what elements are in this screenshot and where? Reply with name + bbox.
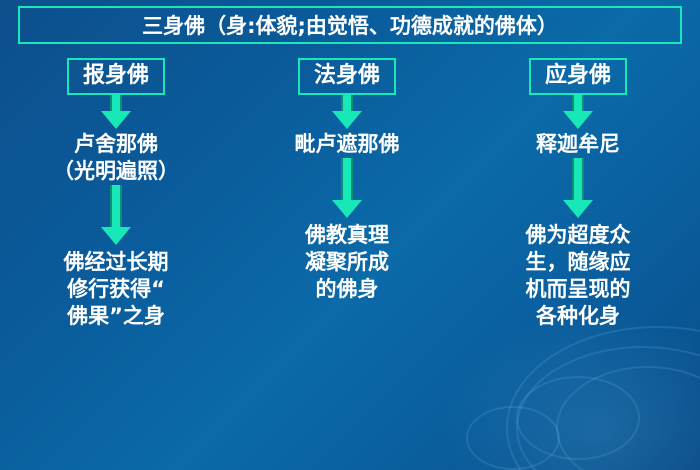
column-2: 法身佛 毗卢遮那佛 佛教真理 凝聚所成 的佛身 xyxy=(247,58,447,303)
column-3-middle-text: 释迦牟尼 xyxy=(536,131,620,158)
decorative-ring xyxy=(556,366,700,470)
column-2-heading-box: 法身佛 xyxy=(298,58,396,95)
column-2-heading: 法身佛 xyxy=(314,63,380,88)
down-arrow-icon xyxy=(101,185,131,247)
column-2-bottom-text: 佛教真理 凝聚所成 的佛身 xyxy=(305,222,389,303)
slide-canvas: 三身佛（身:体貌;由觉悟、功德成就的佛体） 报身佛 卢舍那佛 （光明遍照） 佛经… xyxy=(0,0,700,470)
down-arrow-icon xyxy=(101,95,131,129)
down-arrow-icon xyxy=(332,95,362,129)
column-3-heading-box: 应身佛 xyxy=(529,58,627,95)
column-1-heading-box: 报身佛 xyxy=(67,58,165,95)
column-3-bottom-text: 佛为超度众 生，随缘应 机而呈现的 各种化身 xyxy=(526,222,631,330)
column-1: 报身佛 卢舍那佛 （光明遍照） 佛经过长期 修行获得“ 佛果”之身 xyxy=(16,58,216,330)
slide-title: 三身佛（身:体貌;由觉悟、功德成就的佛体） xyxy=(142,10,558,40)
column-3-heading: 应身佛 xyxy=(545,63,611,88)
down-arrow-icon xyxy=(332,158,362,220)
column-1-heading: 报身佛 xyxy=(83,63,149,88)
title-box: 三身佛（身:体貌;由觉悟、功德成就的佛体） xyxy=(18,6,682,44)
down-arrow-icon xyxy=(563,158,593,220)
column-2-middle-text: 毗卢遮那佛 xyxy=(295,131,400,158)
column-1-bottom-text: 佛经过长期 修行获得“ 佛果”之身 xyxy=(64,249,169,330)
decorative-ring xyxy=(516,376,640,460)
decorative-ring xyxy=(516,346,700,470)
decorative-ring xyxy=(466,406,560,470)
column-3: 应身佛 释迦牟尼 佛为超度众 生，随缘应 机而呈现的 各种化身 xyxy=(478,58,678,330)
background-glow xyxy=(440,310,700,470)
column-1-middle-text: 卢舍那佛 （光明遍照） xyxy=(53,131,179,185)
down-arrow-icon xyxy=(563,95,593,129)
decorative-ring xyxy=(506,326,700,470)
